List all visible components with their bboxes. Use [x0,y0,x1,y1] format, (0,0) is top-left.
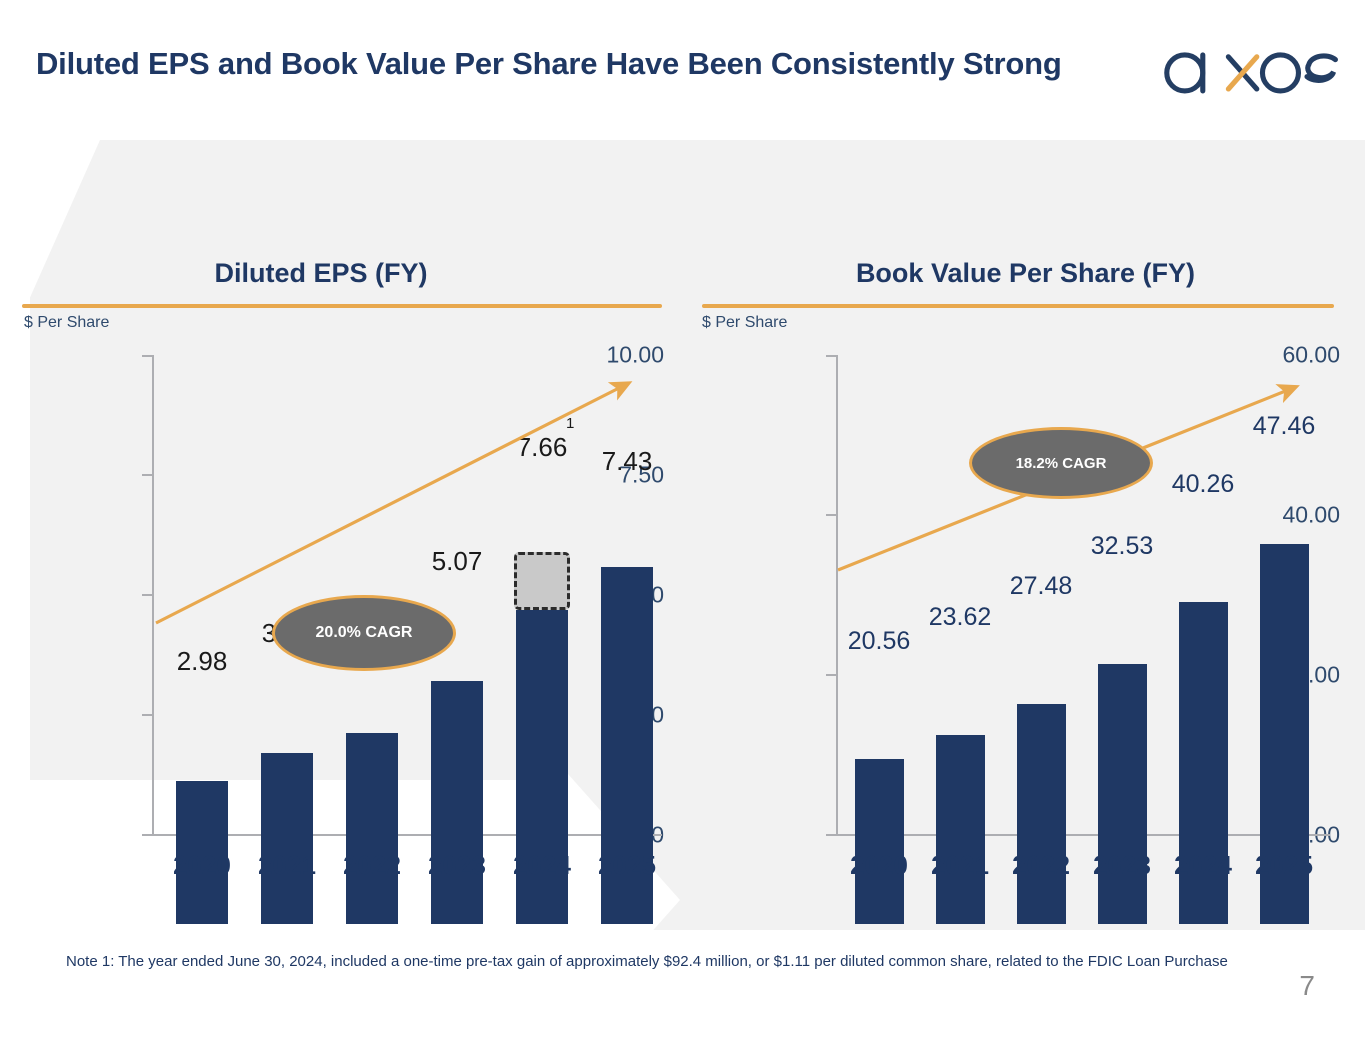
y-tick-mark [142,594,153,596]
bar-2024-onetime-gain-block [514,552,570,610]
bar-value-2024: 40.26 [1172,470,1235,499]
xtick-label-2022: 2022 [1012,850,1070,881]
y-tick-mark [826,834,837,836]
chart-title-diluted-eps: Diluted EPS (FY) [0,258,664,289]
bar-2020 [855,759,904,924]
xtick-label-2025: 2025 [598,850,656,881]
bar-value-2021: 23.62 [929,603,992,632]
y-tick-mark [826,674,837,676]
title-underline-left [22,304,662,308]
xtick-label-2021: 2021 [258,850,316,881]
page-number: 7 [1299,970,1315,1002]
bar-value-2020: 2.98 [177,646,228,677]
footnote-text: Note 1: The year ended June 30, 2024, in… [66,952,1246,972]
y-tick-mark [142,834,153,836]
bar-2021 [936,735,985,924]
bar-2022 [346,733,398,924]
ytick-label: 10.00 [554,342,664,369]
y-tick-mark [142,474,153,476]
xtick-label-2020: 2020 [850,850,908,881]
cagr-badge-label-bvps: 18.2% CAGR [1016,455,1107,472]
bar-2021 [261,753,313,924]
x-axis-line-left [152,834,662,836]
chart-panel-book-value: Book Value Per Share (FY) $ Per Share 0.… [686,140,1365,930]
bar-value-2025: 47.46 [1253,412,1316,441]
x-axis-line-right [836,834,1330,836]
y-tick-mark [142,355,153,357]
xtick-label-2025: 2025 [1255,850,1313,881]
y-axis-unit-label-right: $ Per Share [702,314,787,332]
bar-value-2022: 27.48 [1010,572,1073,601]
xtick-label-2021: 2021 [931,850,989,881]
chart-title-book-value: Book Value Per Share (FY) [686,258,1365,289]
bar-value-2025: 7.43 [602,446,653,477]
ytick-label: 60.00 [1222,342,1340,369]
bar-value-2020: 20.56 [848,627,911,656]
bar-2023 [431,681,483,924]
slide-header: Diluted EPS and Book Value Per Share Hav… [0,0,1365,140]
y-axis-unit-label-left: $ Per Share [24,314,109,332]
cagr-badge-bvps: 18.2% CAGR [969,427,1153,499]
y-axis-line-right [836,355,838,835]
xtick-label-2024: 2024 [1174,850,1232,881]
y-tick-mark [826,514,837,516]
axos-logo [1163,40,1343,102]
xtick-label-2022: 2022 [343,850,401,881]
title-underline-right [702,304,1334,308]
page-title: Diluted EPS and Book Value Per Share Hav… [36,44,1076,85]
chart-panel-diluted-eps: Diluted EPS (FY) $ Per Share 0.00 2.50 5… [0,140,686,930]
xtick-label-2020: 2020 [173,850,231,881]
y-tick-mark [826,355,837,357]
y-tick-mark [142,714,153,716]
ytick-label: 40.00 [1222,502,1340,529]
charts-body: Diluted EPS (FY) $ Per Share 0.00 2.50 5… [0,140,1365,930]
bar-value-2024: 7.66 [517,432,568,463]
xtick-label-2023: 2023 [1093,850,1151,881]
bar-value-2023: 32.53 [1091,532,1154,561]
bar-2023 [1098,664,1147,924]
xtick-label-2024: 2024 [513,850,571,881]
xtick-label-2023: 2023 [428,850,486,881]
footnote-marker-2024: 1 [566,415,574,432]
cagr-badge-label-eps: 20.0% CAGR [316,624,413,642]
cagr-badge-eps: 20.0% CAGR [272,595,456,671]
bar-value-2023: 5.07 [432,546,483,577]
bar-2022 [1017,704,1066,924]
